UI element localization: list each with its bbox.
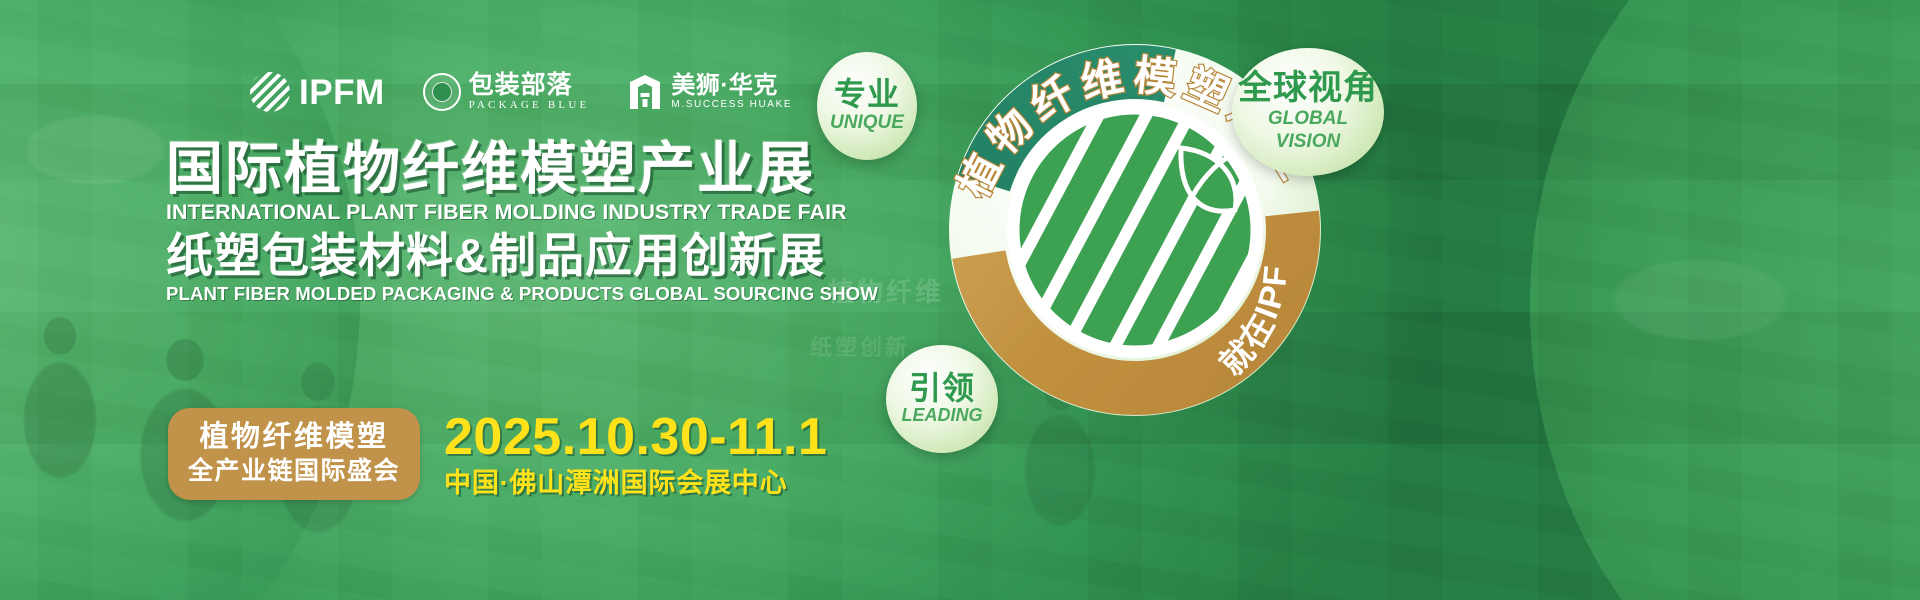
right-graphic-panel: 植物纤维 纸塑创新 — [800, 0, 1920, 600]
logo-huake-text: 美狮·华克 M.SUCCESS HUAKE — [671, 73, 792, 110]
ghost-text-1: 植物纤维 — [828, 272, 944, 309]
title-cn-primary: 国际植物纤维模塑产业展 — [166, 140, 806, 198]
logo-huake-en: M.SUCCESS HUAKE — [671, 99, 792, 111]
badge-global-en-2: VISION — [1276, 132, 1340, 153]
theme-tag-badge: 植物纤维模塑 全产业链国际盛会 — [168, 408, 420, 500]
theme-tag-line2: 全产业链国际盛会 — [188, 455, 400, 487]
logo-ipfm-label: IPFM — [299, 75, 385, 110]
badge-leading-cn: 引领 — [909, 372, 975, 406]
badge-global-vision: 全球视角 GLOBAL VISION — [1232, 48, 1384, 176]
badge-unique-cn: 专业 — [834, 78, 900, 112]
partner-logo-row: IPFM 包装部落 PACKAGE BLUE 美狮·华克 — [250, 72, 792, 112]
event-banner: IPFM 包装部落 PACKAGE BLUE 美狮·华克 — [0, 0, 1920, 600]
date-and-tag-row: 植物纤维模塑 全产业链国际盛会 2025.10.30-11.1 中国·佛山潭洲国… — [168, 408, 827, 500]
logo-package-blue: 包装部落 PACKAGE BLUE — [423, 72, 590, 111]
badge-global-cn: 全球视角 — [1238, 71, 1378, 107]
event-date: 2025.10.30-11.1 — [444, 410, 827, 464]
badge-unique-en: UNIQUE — [830, 113, 904, 134]
m-monogram-icon — [627, 73, 663, 111]
logo-ipfm: IPFM — [250, 72, 385, 112]
badge-leading-en: LEADING — [902, 406, 983, 426]
logo-package-blue-text: 包装部落 PACKAGE BLUE — [469, 72, 590, 111]
package-blue-seal-icon — [423, 73, 461, 111]
ghost-text-2: 纸塑创新 — [810, 330, 910, 362]
leaf-icon — [1181, 148, 1236, 211]
left-content-panel: IPFM 包装部落 PACKAGE BLUE 美狮·华克 — [0, 0, 830, 600]
logo-msuccess-huake: 美狮·华克 M.SUCCESS HUAKE — [627, 73, 792, 111]
title-block: 国际植物纤维模塑产业展 INTERNATIONAL PLANT FIBER MO… — [166, 140, 806, 305]
event-venue: 中国·佛山潭洲国际会展中心 — [444, 467, 827, 499]
logo-huake-cn: 美狮·华克 — [671, 73, 792, 98]
theme-tag-line1: 植物纤维模塑 — [188, 419, 400, 455]
ipfm-sphere-icon — [250, 72, 290, 112]
title-en-primary: INTERNATIONAL PLANT FIBER MOLDING INDUST… — [166, 200, 806, 226]
logo-package-blue-en: PACKAGE BLUE — [469, 99, 590, 112]
title-cn-secondary: 纸塑包装材料&制品应用创新展 — [166, 231, 806, 280]
badge-unique: 专业 UNIQUE — [817, 52, 917, 160]
logo-package-blue-cn: 包装部落 — [469, 72, 590, 98]
title-en-secondary: PLANT FIBER MOLDED PACKAGING & PRODUCTS … — [166, 283, 806, 305]
badge-global-en-1: GLOBAL — [1268, 109, 1348, 130]
event-date-block: 2025.10.30-11.1 中国·佛山潭洲国际会展中心 — [444, 408, 827, 499]
